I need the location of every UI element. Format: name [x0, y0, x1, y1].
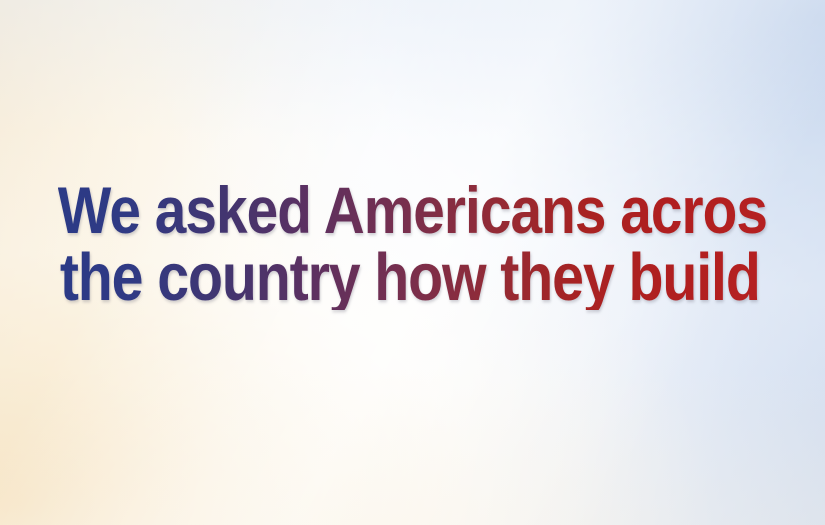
title-slide: We asked Americans across the country ho… [0, 0, 825, 525]
headline-line-2: the country how they build bridges. [60, 245, 765, 310]
headline: We asked Americans across the country ho… [0, 178, 825, 310]
headline-line-1: We asked Americans across [58, 178, 768, 243]
